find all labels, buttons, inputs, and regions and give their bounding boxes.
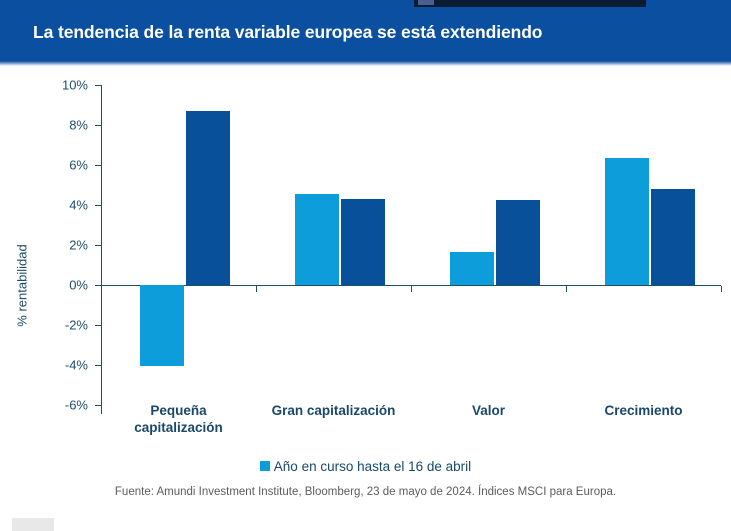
x-axis-tick-mark <box>566 286 567 292</box>
title-band: La tendencia de la renta variable europe… <box>0 9 731 61</box>
x-axis-tick-mark <box>411 286 412 292</box>
y-axis-label: % rentabilidad <box>15 206 30 366</box>
x-axis-category-label: Valor <box>411 402 566 419</box>
y-axis-tick-mark <box>95 85 101 86</box>
y-axis-tick-label: 10% <box>42 78 88 93</box>
category-label-line: Valor <box>411 402 566 419</box>
bar-series1 <box>140 285 184 366</box>
y-axis-tick-label: 4% <box>42 198 88 213</box>
x-axis-category-label: Crecimiento <box>566 402 721 419</box>
x-axis-category-label: Gran capitalización <box>256 402 411 419</box>
top-strip-chip <box>418 0 434 5</box>
y-axis-tick-labels: 10%8%6%4%2%0%-2%-4%-6% <box>42 66 88 466</box>
chart-legend: Año en curso hasta el 16 de abril <box>0 458 731 476</box>
y-axis-tick-label: -6% <box>42 398 88 413</box>
y-axis-tick-label: 2% <box>42 238 88 253</box>
bar-series1 <box>605 158 649 285</box>
bar-series2 <box>496 200 540 285</box>
legend-label: Año en curso hasta el 16 de abril <box>274 459 471 474</box>
bottom-left-chip <box>12 518 54 531</box>
y-axis-tick-mark <box>95 405 101 406</box>
category-label-line: Crecimiento <box>566 402 721 419</box>
y-axis-tick-label: 6% <box>42 158 88 173</box>
x-axis-category-label: Pequeñacapitalización <box>101 402 256 436</box>
y-axis-tick-label: 8% <box>42 118 88 133</box>
top-strip-dark-panel <box>414 0 646 7</box>
category-label-line: Pequeña <box>101 402 256 419</box>
x-axis-tick-mark <box>721 286 722 292</box>
bar-series1 <box>295 194 339 285</box>
y-axis-tick-mark <box>95 365 101 366</box>
plot-area: PequeñacapitalizaciónGran capitalización… <box>101 66 721 466</box>
legend-swatch-icon <box>260 461 270 471</box>
source-note: Fuente: Amundi Investment Institute, Blo… <box>0 486 731 498</box>
y-axis-tick-mark <box>95 125 101 126</box>
y-axis-tick-mark <box>95 325 101 326</box>
chart-canvas: % rentabilidad 10%8%6%4%2%0%-2%-4%-6% Pe… <box>0 66 731 466</box>
bar-series2 <box>186 111 230 285</box>
y-axis-tick-mark <box>95 245 101 246</box>
y-axis-tick-label: -4% <box>42 358 88 373</box>
y-axis-tick-label: 0% <box>42 278 88 293</box>
bar-series1 <box>450 252 494 285</box>
category-label-line: Gran capitalización <box>256 402 411 419</box>
x-axis-tick-mark <box>256 286 257 292</box>
y-axis-tick-mark <box>95 205 101 206</box>
category-label-line: capitalización <box>101 419 256 436</box>
bar-series2 <box>651 189 695 285</box>
page-title: La tendencia de la renta variable europe… <box>33 22 542 43</box>
bar-series2 <box>341 199 385 285</box>
y-axis-tick-label: -2% <box>42 318 88 333</box>
y-axis-tick-mark <box>95 165 101 166</box>
y-axis-tick-mark <box>95 285 101 286</box>
